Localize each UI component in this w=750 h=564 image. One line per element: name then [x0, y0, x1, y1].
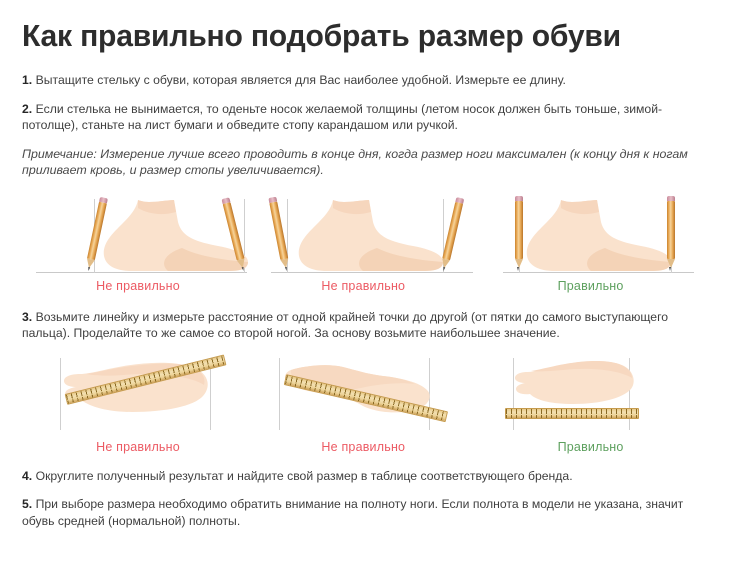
floor-baseline: [503, 272, 694, 273]
floor-baseline: [36, 272, 247, 273]
step-2: 2. Если стелька не вынимается, то оденьт…: [22, 101, 717, 134]
pencil-left: [515, 201, 523, 273]
guide-line-left: [279, 358, 280, 430]
step-4: 4. Округлите полученный результат и найд…: [22, 468, 717, 485]
pencil-eraser-icon: [515, 196, 523, 201]
pencil-right: [667, 201, 675, 273]
pencil-body: [515, 201, 523, 259]
caption-wrong-1: Не правильно: [22, 279, 254, 294]
step-3: 3. Возьмите линейку и измерьте расстояни…: [22, 309, 717, 342]
pencil-lead: [87, 266, 90, 270]
step-1: 1. Вытащите стельку с обуви, которая явл…: [22, 72, 717, 89]
caption-ruler-wrong-1: Не правильно: [22, 440, 254, 455]
step-2-text: Если стелька не вынимается, то оденьте н…: [22, 102, 662, 133]
foot-side-view: [297, 200, 447, 272]
step-4-number: 4.: [22, 469, 32, 483]
step-5: 5. При выборе размера необходимо обратит…: [22, 496, 717, 529]
step-1-number: 1.: [22, 73, 32, 87]
foot-side-view: [525, 200, 675, 272]
pencil-body: [667, 201, 675, 259]
caption-correct-1: Правильно: [493, 279, 689, 294]
ruler-ticks-top: [506, 409, 638, 414]
step-1-text: Вытащите стельку с обуви, которая являет…: [36, 73, 566, 87]
caption-ruler-wrong-2: Не правильно: [257, 440, 469, 455]
step-4-text: Округлите полученный результат и найдите…: [36, 469, 573, 483]
measurement-note: Примечание: Измерение лучше всего провод…: [22, 146, 722, 179]
caption-ruler-correct: Правильно: [493, 440, 689, 455]
intro-steps: 1. Вытащите стельку с обуви, которая явл…: [22, 72, 728, 179]
illustration-ruler-wrong-2: Не правильно: [257, 354, 492, 452]
pencil-eraser-icon: [667, 196, 675, 201]
pencil-lead: [517, 267, 519, 271]
step-5-text: При выборе размера необходимо обратить в…: [22, 497, 683, 528]
step-3-number: 3.: [22, 310, 32, 324]
caption-wrong-2: Не правильно: [257, 279, 469, 294]
shoe-size-guide-page: Как правильно подобрать размер обуви 1. …: [0, 0, 750, 564]
closing-steps: 4. Округлите полученный результат и найд…: [22, 468, 728, 530]
page-title: Как правильно подобрать размер обуви: [22, 0, 707, 56]
illustration-pencil-correct: Правильно: [493, 189, 728, 293]
illustration-pencil-wrong-1: Не правильно: [22, 189, 257, 293]
foot-top-view: [515, 358, 637, 406]
pencil-tracing-illustrations: Не правильно: [22, 189, 728, 293]
guide-line-left: [513, 358, 514, 430]
illustration-ruler-wrong-1: Не правильно: [22, 354, 257, 452]
pencil-body: [270, 201, 289, 259]
step-2-number: 2.: [22, 102, 32, 116]
ruler-measuring-illustrations: Не правильно Не правильно: [22, 354, 728, 452]
pencil-lead: [669, 267, 671, 271]
ruler-ticks-bottom: [506, 415, 638, 418]
step-5-number: 5.: [22, 497, 32, 511]
ruler: [505, 408, 639, 419]
guide-line-left: [60, 358, 61, 430]
illustration-pencil-wrong-2: Не правильно: [257, 189, 492, 293]
step-3-text: Возьмите линейку и измерьте расстояние о…: [22, 310, 668, 341]
illustration-ruler-correct: Правильно: [493, 354, 728, 452]
